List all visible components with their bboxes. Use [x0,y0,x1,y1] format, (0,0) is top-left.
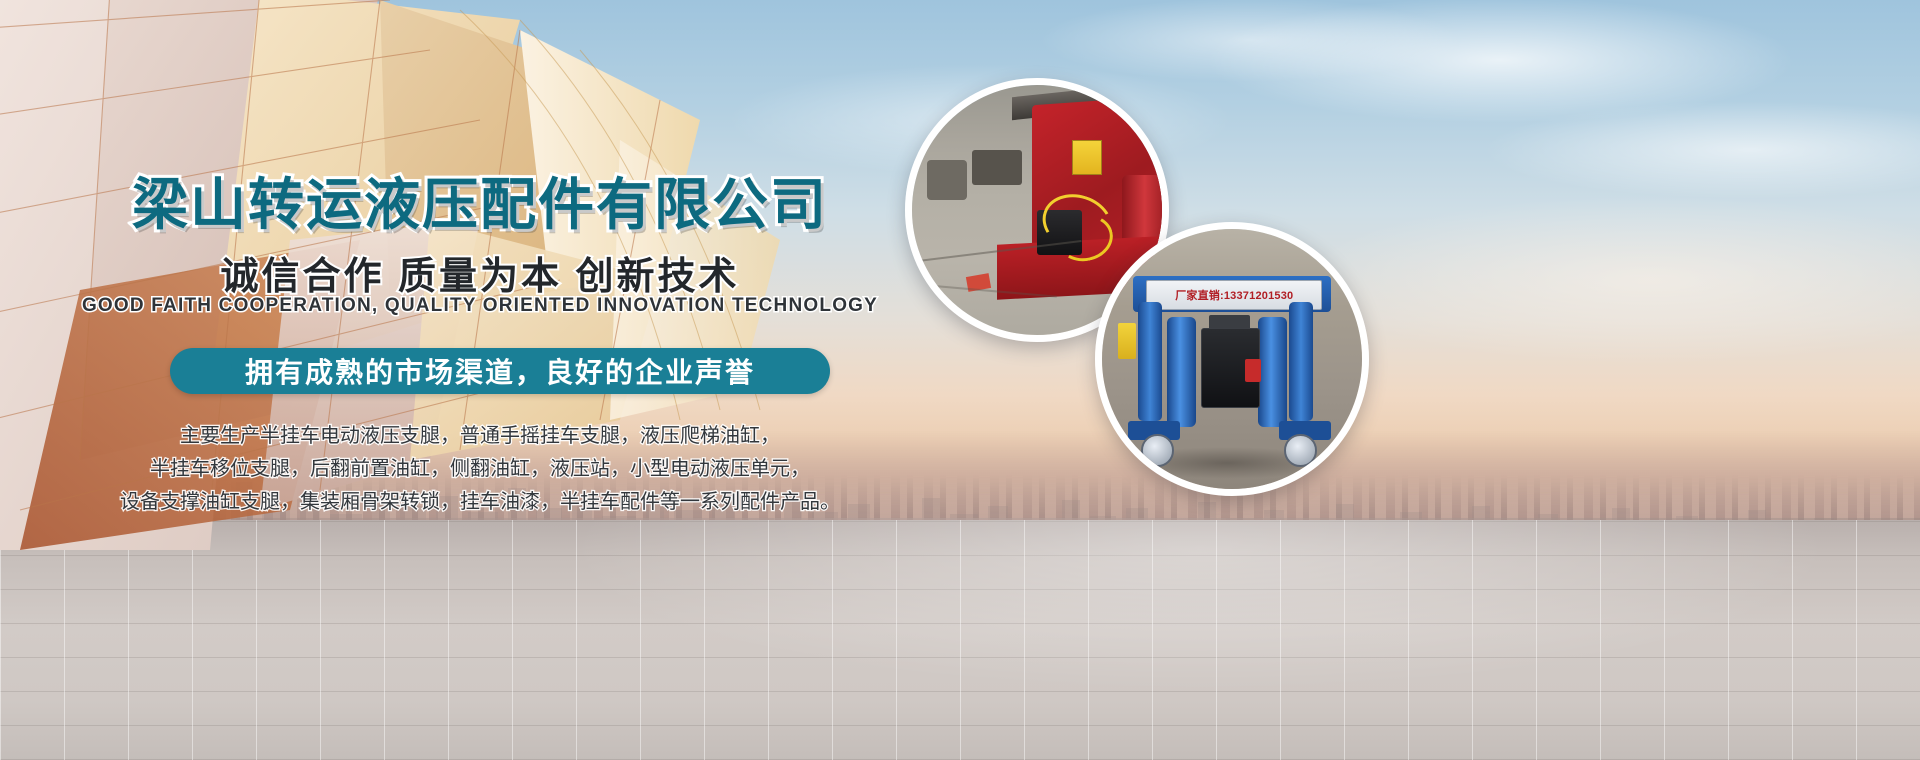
blue-cylinder-left [1167,317,1196,426]
yellow-tag [1118,323,1136,359]
description-line-2: 半挂车移位支腿，后翻前置油缸，侧翻油缸，液压站，小型电动液压单元， [60,453,900,486]
english-tagline: GOOD FAITH COOPERATION, QUALITY ORIENTED… [0,295,960,317]
blue-hydraulic-unit-photo[interactable]: 厂家直销:13371201530 [1095,222,1369,496]
ribbon-label: 拥有成熟的市场渠道，良好的企业声誉 [245,351,755,391]
text-content-block: 梁山转运液压配件有限公司 诚信合作 质量为本 创新技术 GOOD FAITH C… [0,0,960,620]
yellow-warning-label [1072,140,1102,175]
highlight-ribbon: 拥有成熟的市场渠道，良好的企业声誉 [170,348,830,394]
background-debris-1 [927,160,967,200]
background-debris-2 [972,150,1022,185]
blue-post-left [1138,302,1161,422]
blue-unit-scene: 厂家直销:13371201530 [1102,229,1362,489]
description-line-3: 设备支撑油缸支腿，集装厢骨架转锁，挂车油漆，半挂车配件等一系列配件产品。 [60,486,900,519]
blue-post-right [1289,302,1312,422]
caster-wheel-left [1141,434,1174,467]
product-description: 主要生产半挂车电动液压支腿，普通手摇挂车支腿，液压爬梯油缸， 半挂车移位支腿，后… [60,420,900,519]
caster-wheel-right [1284,434,1317,467]
subtitle-slogan: 诚信合作 质量为本 创新技术 [0,245,960,300]
description-line-1: 主要生产半挂车电动液压支腿，普通手摇挂车支腿，液压爬梯油缸， [60,420,900,453]
page-title: 梁山转运液压配件有限公司 [0,160,960,241]
phone-number-text: 厂家直销:13371201530 [1175,287,1293,303]
red-indicator-tag [1245,359,1261,382]
hero-banner: 梁山转运液压配件有限公司 诚信合作 质量为本 创新技术 GOOD FAITH C… [0,0,1920,760]
blue-cylinder-right [1258,317,1287,426]
